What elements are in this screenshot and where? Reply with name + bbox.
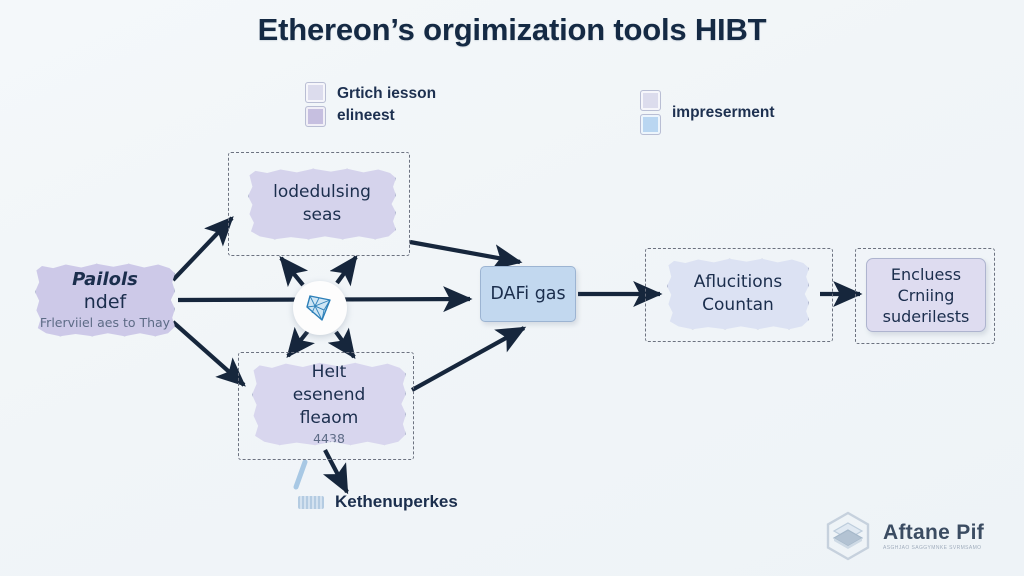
edge-bottom-to-center — [412, 328, 524, 390]
node-aflucitions-line2: Countan — [702, 294, 774, 317]
caption-kethenuperkes: Kethenuperkes — [298, 492, 458, 512]
node-helt-line3: fleaom — [300, 407, 359, 430]
diamond-gem-icon — [303, 291, 337, 325]
watermark-subtitle: ASGHJAO SAGGYMNKE SVRMSAMO — [883, 546, 984, 551]
node-pailols-subtext: Frlerviiel aes to Thay — [40, 314, 170, 332]
edge-source-to-bottom — [173, 322, 244, 385]
node-helt-line2: esenend — [293, 384, 366, 407]
watermark: Aftane Pif ASGHJAO SAGGYMNKE SVRMSAMO — [822, 510, 984, 562]
node-aflucitions-line1: Aflucitions — [694, 271, 783, 294]
node-lodedulsing-line1: lodedulsing — [273, 181, 371, 204]
hub-node[interactable] — [293, 281, 347, 335]
node-dafi-gas[interactable]: DAFi gas — [480, 266, 576, 322]
caption-label: Kethenuperkes — [335, 492, 458, 512]
edge-hub-to-top-right — [337, 257, 356, 283]
edge-accent-stub — [296, 462, 305, 487]
hexagon-layers-logo — [822, 510, 874, 562]
node-helt-esenend-fleaom[interactable]: Helt esenend fleaom 4438 — [252, 362, 406, 446]
node-encluess-line3: suderilests — [883, 306, 970, 327]
node-encluess-line1: Encluess — [891, 264, 961, 285]
node-pailols-line2: ndef — [84, 291, 126, 314]
diagram-canvas: Ethereon’s orgimization tools HIBT Grtic… — [0, 0, 1024, 576]
node-encluess-crniing-suderilests[interactable]: Encluess Crniing suderilests — [866, 258, 986, 332]
node-encluess-line2: Crniing — [898, 285, 955, 306]
node-pailols-line1: Pailols — [72, 268, 138, 291]
node-dafi-gas-label: DAFi gas — [490, 283, 565, 306]
edge-hub-to-top-left — [281, 258, 303, 285]
watermark-text: Aftane Pif ASGHJAO SAGGYMNKE SVRMSAMO — [883, 522, 984, 551]
node-pailols-ndef[interactable]: Pailols ndef Frlerviiel aes to Thay — [35, 263, 175, 337]
edge-source-to-top — [173, 218, 232, 280]
node-aflucitions-countan[interactable]: Aflucitions Countan — [667, 258, 809, 330]
edge-top-to-center — [410, 242, 520, 262]
node-lodedulsing-line2: seas — [303, 204, 342, 227]
watermark-name: Aftane Pif — [883, 522, 984, 543]
node-lodedulsing-seas[interactable]: lodedulsing seas — [248, 168, 396, 240]
striped-marker-icon — [298, 496, 324, 509]
